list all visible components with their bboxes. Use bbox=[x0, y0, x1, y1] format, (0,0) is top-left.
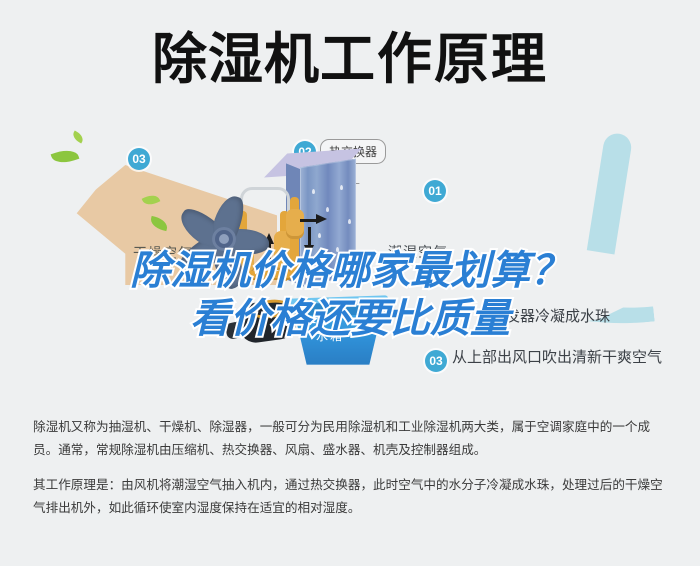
flow-arrow-right bbox=[316, 214, 327, 224]
paragraph-2: 其工作原理是：由风机将潮湿空气抽入机内，通过热交换器，此时空气中的水分子冷凝成水… bbox=[33, 474, 671, 520]
caption-step-03-text: 从上部出风口吹出清新干爽空气 bbox=[452, 349, 662, 366]
fan-icon bbox=[168, 183, 286, 291]
badge-03-caption: 03 bbox=[425, 350, 447, 372]
article-body: 除湿机又称为抽湿机、干燥机、除湿器，一般可分为民用除湿机和工业除湿机两大类，属于… bbox=[33, 416, 671, 520]
page-title-part2: 工作原理 bbox=[320, 28, 548, 90]
leaf-icon bbox=[51, 146, 80, 166]
humid-air-flow-tail bbox=[587, 132, 633, 255]
page-root: 除湿机工作原理 干燥空气 03 02 01 热交换器 bbox=[0, 0, 700, 566]
coil-bulb bbox=[286, 209, 304, 239]
caption-step-02: 发器冷凝成水珠 bbox=[505, 305, 610, 326]
humid-air-label: 潮湿空气 bbox=[388, 242, 448, 262]
water-tank-label: 水箱 bbox=[316, 327, 344, 344]
flow-arrow-down bbox=[304, 245, 314, 256]
page-title-part1: 除湿机 bbox=[152, 28, 320, 90]
fan-hub-center bbox=[219, 234, 229, 244]
badge-01: 01 bbox=[424, 180, 446, 202]
page-title: 除湿机工作原理 bbox=[0, 28, 700, 90]
badge-03: 03 bbox=[128, 148, 150, 170]
paragraph-1: 除湿机又称为抽湿机、干燥机、除湿器，一般可分为民用除湿机和工业除湿机两大类，属于… bbox=[33, 416, 671, 462]
water-tank-opening bbox=[304, 303, 372, 315]
flow-arrow-stem bbox=[308, 227, 311, 247]
leaf-icon bbox=[71, 131, 85, 144]
caption-step-03: 03从上部出风口吹出清新干爽空气 bbox=[425, 346, 662, 369]
